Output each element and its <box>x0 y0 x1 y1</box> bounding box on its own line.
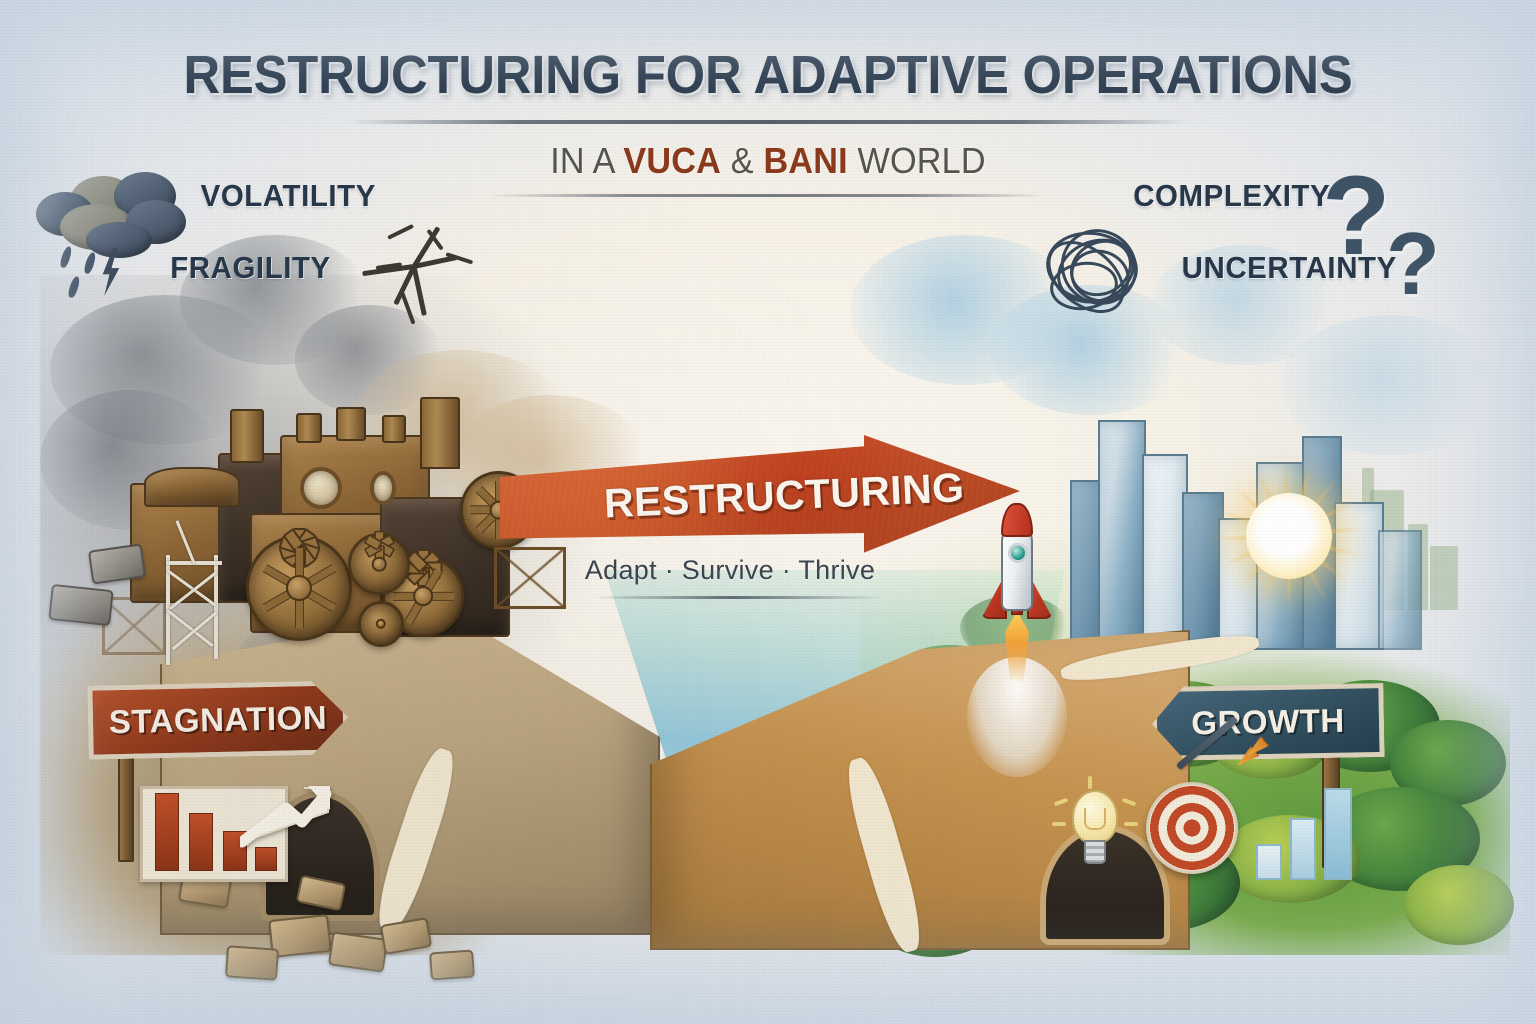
signpost-left-post <box>118 742 134 862</box>
crack-icon <box>358 212 488 324</box>
tagline-divider <box>594 596 882 599</box>
building <box>1378 530 1422 650</box>
label-complexity: COMPLEXITY <box>1133 178 1330 214</box>
roller <box>358 601 404 647</box>
broken-scaffold <box>166 555 246 665</box>
subtitle-prefix: IN A <box>550 140 623 181</box>
distant-building <box>1430 546 1458 610</box>
label-volatility: VOLATILITY <box>201 178 376 214</box>
stagnation-sign-label: STAGNATION <box>109 699 328 742</box>
rubble <box>429 949 475 980</box>
page-subtitle: IN A VUCA & BANI WORLD <box>38 140 1497 182</box>
sun-icon <box>1246 493 1332 579</box>
poster-header: RESTRUCTURING FOR ADAPTIVE OPERATIONS IN… <box>0 0 1536 197</box>
label-fragility: FRAGILITY <box>170 250 331 286</box>
building <box>1098 420 1146 650</box>
rubble <box>48 584 113 626</box>
rubble <box>225 945 279 981</box>
page-title: RESTRUCTURING FOR ADAPTIVE OPERATIONS <box>46 44 1490 106</box>
target-bullseye-icon <box>1146 782 1238 874</box>
subtitle-bani: BANI <box>763 140 847 181</box>
stagnation-sign[interactable]: STAGNATION <box>87 680 348 759</box>
subtitle-conjunction: & <box>721 140 763 181</box>
rising-bar-chart-icon <box>1256 788 1362 880</box>
title-divider <box>349 120 1187 124</box>
subtitle-vuca: VUCA <box>623 140 721 181</box>
lightbulb-icon <box>1068 790 1122 866</box>
bush <box>1404 865 1514 945</box>
restructuring-arrow: RESTRUCTURING <box>500 435 1020 575</box>
tangled-scribble-icon <box>1040 222 1162 326</box>
storm-cloud-icon <box>36 170 188 262</box>
subtitle-divider <box>490 194 1046 197</box>
rubble <box>328 931 388 972</box>
upward-arrow-icon <box>240 782 332 848</box>
subtitle-suffix: WORLD <box>848 140 986 181</box>
question-mark-icon: ? <box>1322 160 1390 272</box>
infographic-poster: RESTRUCTURING Adapt · Survive · Thrive S… <box>0 0 1536 1024</box>
distant-building <box>1362 468 1374 504</box>
question-mark-icon: ? <box>1386 220 1440 308</box>
growth-sign[interactable]: GROWTH <box>1151 683 1384 761</box>
gear <box>348 533 410 595</box>
tagline: Adapt · Survive · Thrive <box>560 555 900 586</box>
gear <box>246 535 352 641</box>
